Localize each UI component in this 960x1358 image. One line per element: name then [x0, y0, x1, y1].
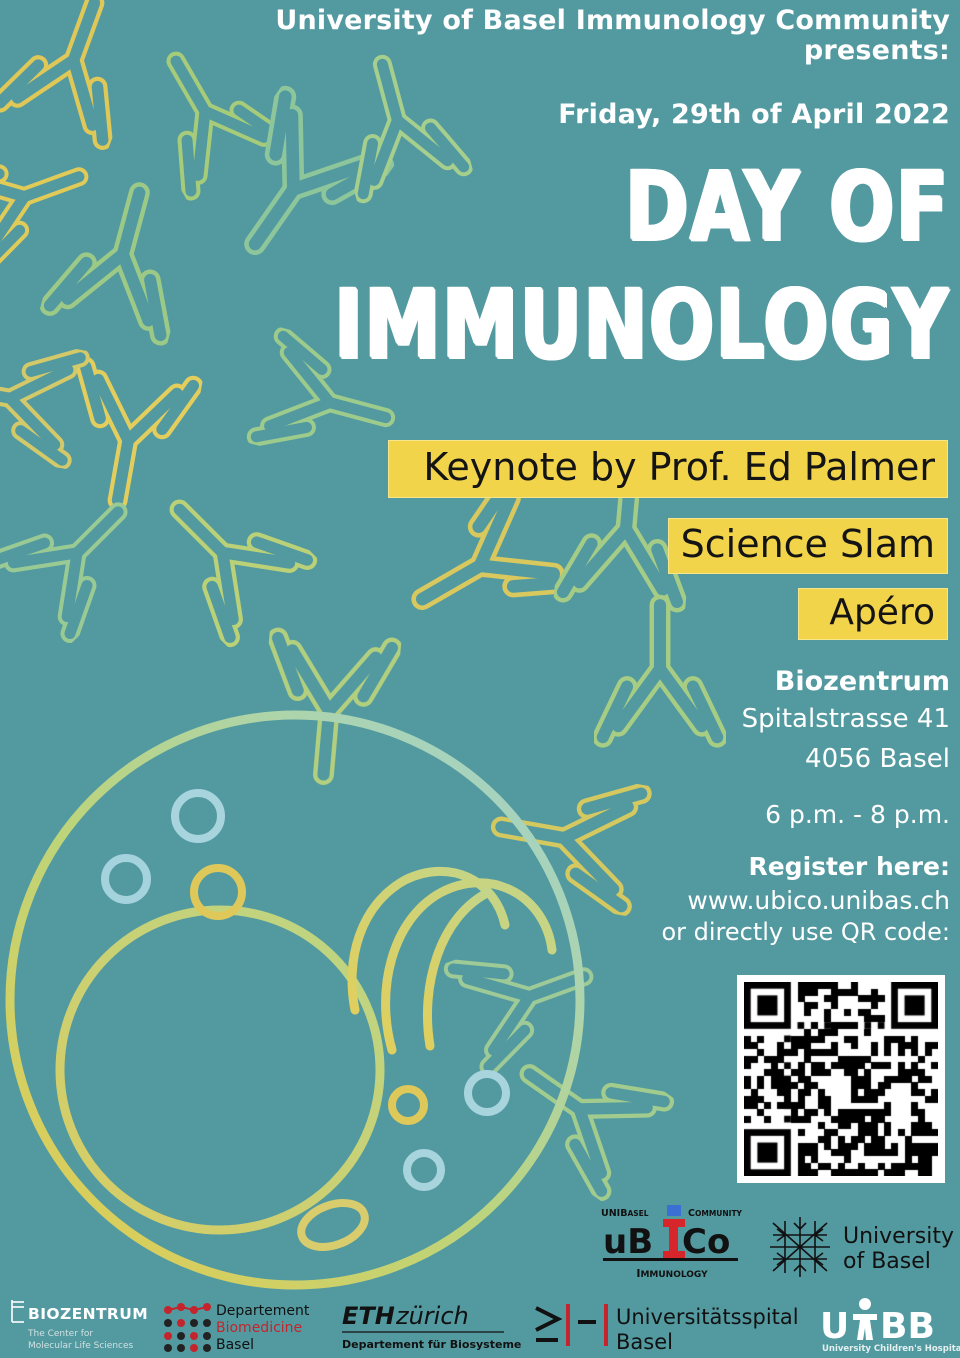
eth-mark-italic: zürich: [395, 1302, 469, 1330]
biozentrum-mark: [12, 1300, 24, 1322]
university-of-basel-logo: University of Basel: [765, 1215, 955, 1283]
ubico-underline: [603, 1258, 738, 1261]
dbm-line3: Basel: [216, 1337, 254, 1353]
usb-line1: Universitätsspital: [616, 1305, 799, 1329]
ukbb-child-icon: [853, 1298, 877, 1340]
unibas-line2: of Basel: [843, 1249, 931, 1274]
highlight-apero: Apéro: [798, 588, 948, 640]
usb-mark-icon: [536, 1304, 606, 1346]
venue-name: Biozentrum: [540, 666, 950, 699]
unibas-line1: University: [843, 1224, 954, 1249]
usb-line2: Basel: [616, 1330, 673, 1354]
biozentrum-tagline2: Molecular Life Sciences: [28, 1341, 134, 1351]
poster-canvas: University of Basel Immunology Community…: [0, 0, 960, 1358]
presenter-line: University of Basel Immunology Community…: [260, 6, 950, 66]
poster-title-line-1: DAY OF: [420, 163, 950, 250]
poster-title-line-2: IMMUNOLOGY: [300, 281, 950, 368]
primary-logo-row: UNIBASEL COMMUNITY uB Co IMMUNOLOGY: [595, 1205, 955, 1295]
ubico-red-stem: [669, 1219, 678, 1255]
dbm-dot-matrix-icon: [164, 1303, 211, 1352]
biozentrum-logo: BIOZENTRUM The Center for Molecular Life…: [6, 1298, 146, 1356]
universitaetsspital-basel-logo: Universitätsspital Basel: [530, 1298, 800, 1356]
registration-qr-note: or directly use QR code:: [540, 918, 950, 947]
highlight-science-slam: Science Slam: [668, 518, 948, 574]
unibas-snowflake-icon: [770, 1217, 830, 1277]
qr-code[interactable]: [737, 975, 945, 1183]
dbm-line2: Biomedicine: [216, 1320, 302, 1336]
registration-url[interactable]: www.ubico.unibas.ch: [540, 886, 950, 917]
event-date: Friday, 29th of April 2022: [420, 100, 950, 130]
biozentrum-tagline1: The Center for: [27, 1329, 93, 1339]
departement-biomedicine-logo: Departement Biomedicine Basel: [160, 1298, 315, 1356]
venue-city: 4056 Basel: [540, 744, 950, 776]
partner-logo-row: BIOZENTRUM The Center for Molecular Life…: [0, 1298, 960, 1358]
ubico-wordmark-left: uB: [603, 1222, 653, 1262]
eth-subtitle: Departement für Biosysteme: [342, 1338, 521, 1351]
ukbb-wordmark-u: U: [820, 1306, 849, 1347]
ubico-wordmark-right: Co: [682, 1222, 730, 1262]
registration-label: Register here:: [540, 852, 950, 883]
qr-code-icon: [744, 982, 938, 1176]
venue-street: Spitalstrasse 41: [540, 704, 950, 736]
eth-mark-bold: ETH: [342, 1302, 395, 1330]
ubico-top-left-label: UNIBASEL: [601, 1208, 649, 1219]
ukbb-subtitle: University Children's Hospital Basel: [822, 1344, 960, 1354]
eth-zurich-logo: ETH zürich Departement für Biosysteme: [338, 1298, 508, 1356]
ukbb-wordmark-bb: BB: [880, 1306, 935, 1347]
ubico-blue-block: [667, 1205, 681, 1216]
ubico-top-right-label: COMMUNITY: [688, 1208, 743, 1219]
biozentrum-name: BIOZENTRUM: [28, 1305, 148, 1323]
highlight-keynote: Keynote by Prof. Ed Palmer: [388, 440, 948, 498]
ubico-logo: UNIBASEL COMMUNITY uB Co IMMUNOLOGY: [595, 1205, 750, 1290]
ukbb-logo: U BB University Children's Hospital Base…: [818, 1298, 958, 1356]
event-time: 6 p.m. - 8 p.m.: [540, 800, 950, 831]
ubico-subtitle: IMMUNOLOGY: [636, 1267, 708, 1280]
dbm-line1: Departement: [216, 1303, 310, 1319]
